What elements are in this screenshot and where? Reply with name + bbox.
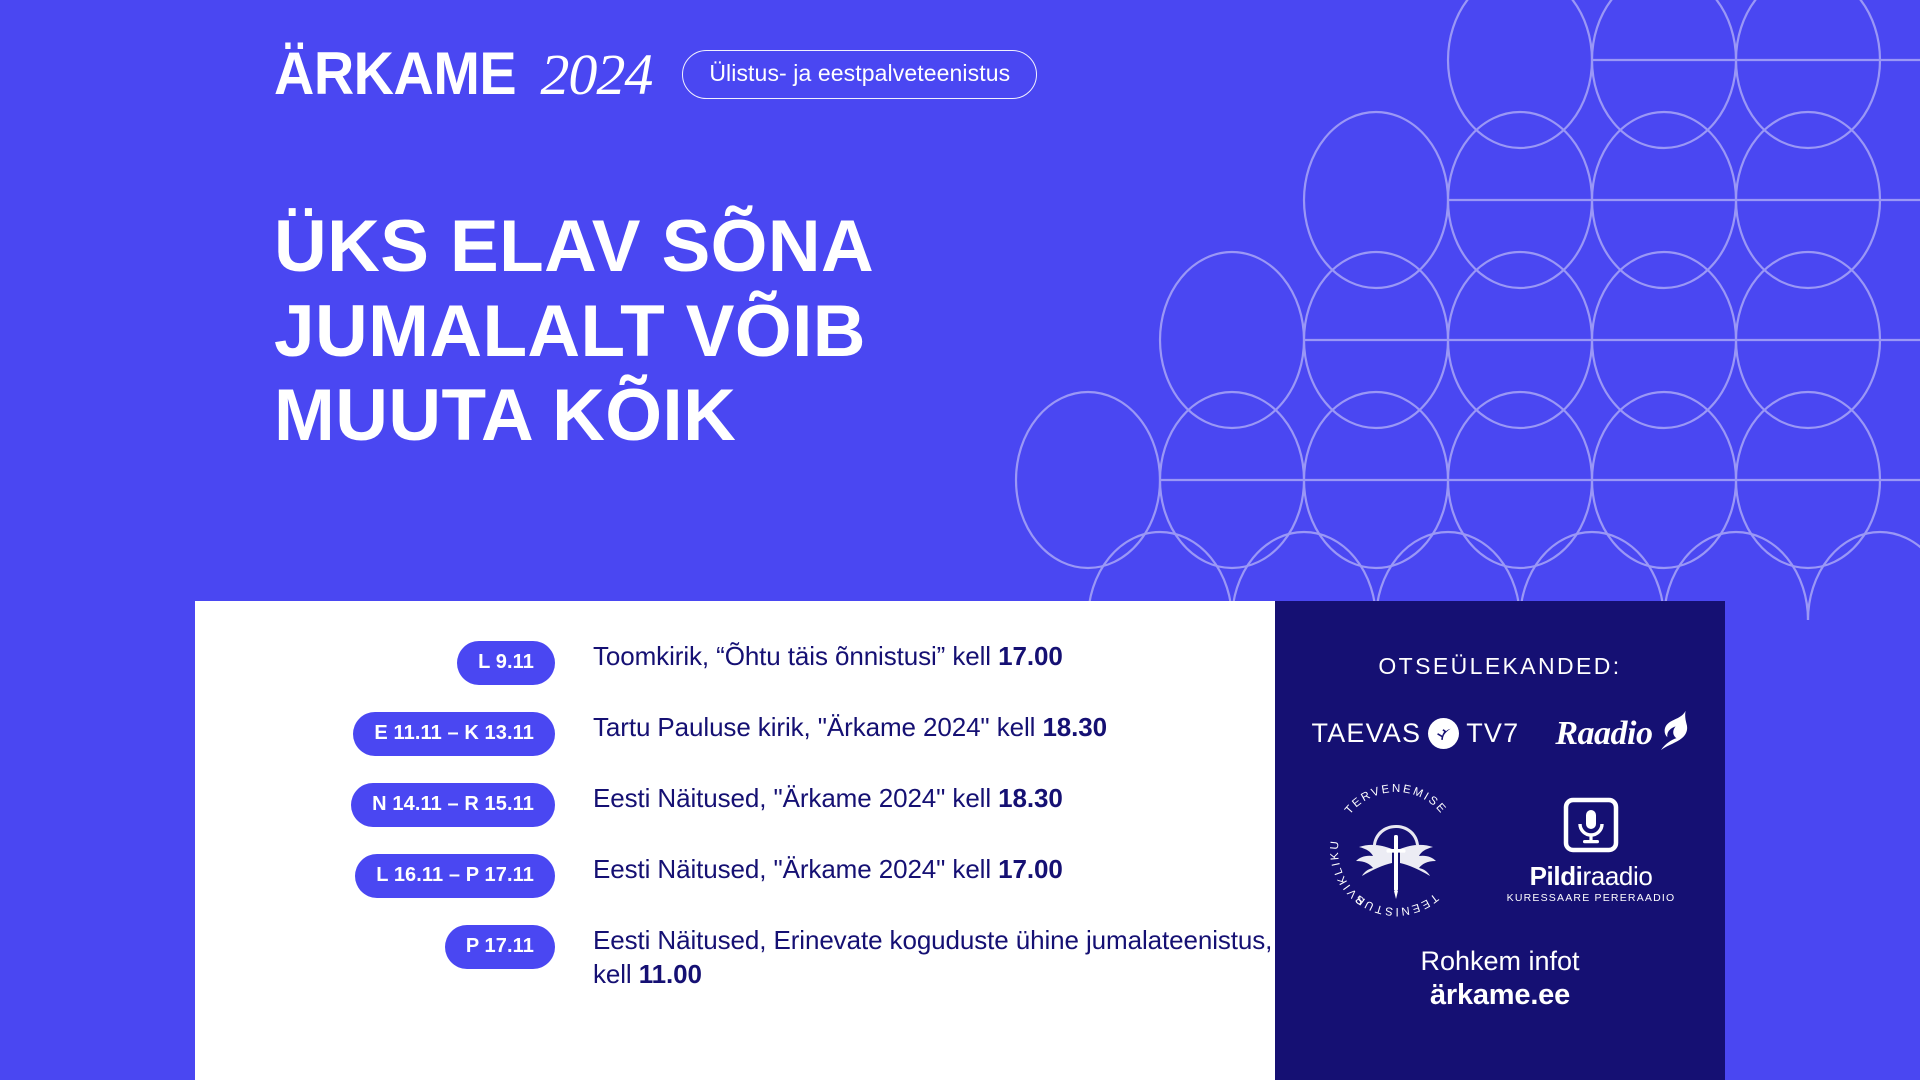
raadio7-logo: Raadio [1555, 710, 1688, 757]
schedule-row: N 14.11 – R 15.11 Eesti Näitused, "Ärkam… [195, 780, 1275, 827]
schedule-text: Toomkirik, “Õhtu täis õnnistusi” kell [593, 641, 998, 671]
broadcast-title: OTSEÜLEKANDED: [1378, 655, 1621, 678]
dove-icon [1428, 718, 1459, 749]
date-pill-cell: L 16.11 – P 17.11 [270, 851, 555, 898]
more-info-block: Rohkem infot ärkame.ee [1420, 945, 1579, 1013]
schedule-description: Tartu Pauluse kirik, "Ärkame 2024" kell … [555, 709, 1275, 744]
brand-year: 2024 [540, 46, 652, 104]
schedule-time: 18.30 [998, 783, 1063, 813]
date-badge: E 11.11 – K 13.11 [353, 712, 555, 756]
date-pill-cell: N 14.11 – R 15.11 [270, 780, 555, 827]
pildiraadio-logo: Pildiraadio KURESSAARE PERERAADIO [1507, 797, 1676, 904]
date-pill-cell: L 9.11 [270, 638, 555, 685]
schedule-time: 11.00 [639, 959, 702, 989]
website-url[interactable]: ärkame.ee [1420, 978, 1579, 1013]
headline-line-2: JUMALALT VÕIB [274, 290, 874, 375]
schedule-row: E 11.11 – K 13.11 Tartu Pauluse kirik, "… [195, 709, 1275, 756]
schedule-row: L 9.11 Toomkirik, “Õhtu täis õnnistusi” … [195, 638, 1275, 685]
raadio-wordmark: Raadio [1555, 717, 1652, 751]
schedule-row: P 17.11 Eesti Näitused, Erinevate kogudu… [195, 922, 1275, 992]
schedule-text: Eesti Näitused, "Ärkame 2024" kell [593, 854, 998, 884]
broadcast-logo-row-bottom: TERVENEMISE TEENISTUS TERVIKLIKU [1275, 779, 1725, 921]
winged-sword-icon [1356, 825, 1436, 899]
pildiraadio-wordmark: Pildiraadio [1530, 863, 1653, 889]
header: ÄRKAME 2024 Ülistus- ja eestpalveteenist… [274, 44, 1037, 104]
brand-name: ÄRKAME [274, 44, 516, 104]
schedule-time: 17.00 [998, 854, 1063, 884]
headline-line-3: MUUTA KÕIK [274, 374, 874, 459]
schedule-description: Eesti Näitused, "Ärkame 2024" kell 17.00 [555, 851, 1275, 886]
terviklik-tervenemise-teenistus-logo: TERVENEMISE TEENISTUS TERVIKLIKU [1325, 779, 1467, 921]
schedule-text: Eesti Näitused, "Ärkame 2024" kell [593, 783, 998, 813]
pildi-bold: Pildi [1530, 861, 1583, 891]
date-badge: L 9.11 [457, 641, 555, 685]
date-pill-cell: E 11.11 – K 13.11 [270, 709, 555, 756]
brand-lockup: ÄRKAME 2024 [274, 44, 652, 104]
date-pill-cell: P 17.11 [270, 922, 555, 969]
broadcast-panel: OTSEÜLEKANDED: TAEVAS TV7 Raadio [1275, 601, 1725, 1080]
schedule-text: Tartu Pauluse kirik, "Ärkame 2024" kell [593, 712, 1042, 742]
circle-pattern-decoration [980, 0, 1920, 620]
poster-canvas: ÄRKAME 2024 Ülistus- ja eestpalveteenist… [0, 0, 1920, 1080]
date-badge: N 14.11 – R 15.11 [351, 783, 555, 827]
svg-text:TERVENEMISE: TERVENEMISE [1343, 783, 1449, 817]
headline-line-1: ÜKS ELAV SÕNA [274, 205, 874, 290]
tv7-wordmark: TV7 [1466, 720, 1519, 747]
date-badge: L 16.11 – P 17.11 [355, 854, 555, 898]
pildiraadio-tagline: KURESSAARE PERERAADIO [1507, 893, 1676, 904]
schedule-time: 17.00 [998, 641, 1063, 671]
flame-wing-icon [1654, 710, 1688, 757]
schedule-description: Toomkirik, “Õhtu täis õnnistusi” kell 17… [555, 638, 1275, 673]
schedule-description: Eesti Näitused, Erinevate koguduste ühin… [555, 922, 1275, 992]
raadio-light: raadio [1583, 861, 1653, 891]
more-info-label: Rohkem infot [1420, 945, 1579, 978]
schedule-time: 18.30 [1042, 712, 1107, 742]
subtitle-pill: Ülistus- ja eestpalveteenistus [682, 50, 1037, 99]
microphone-icon [1563, 797, 1619, 858]
schedule-row: L 16.11 – P 17.11 Eesti Näitused, "Ärkam… [195, 851, 1275, 898]
page-title: ÜKS ELAV SÕNA JUMALALT VÕIB MUUTA KÕIK [274, 205, 874, 459]
date-badge: P 17.11 [445, 925, 555, 969]
schedule-description: Eesti Näitused, "Ärkame 2024" kell 18.30 [555, 780, 1275, 815]
taevas-tv7-logo: TAEVAS TV7 [1312, 718, 1520, 749]
taevas-wordmark: TAEVAS [1312, 720, 1422, 747]
schedule-panel: L 9.11 Toomkirik, “Õhtu täis õnnistusi” … [195, 601, 1275, 1080]
schedule-list: L 9.11 Toomkirik, “Õhtu täis õnnistusi” … [195, 638, 1275, 992]
broadcast-logo-row-top: TAEVAS TV7 Raadio [1275, 710, 1725, 757]
